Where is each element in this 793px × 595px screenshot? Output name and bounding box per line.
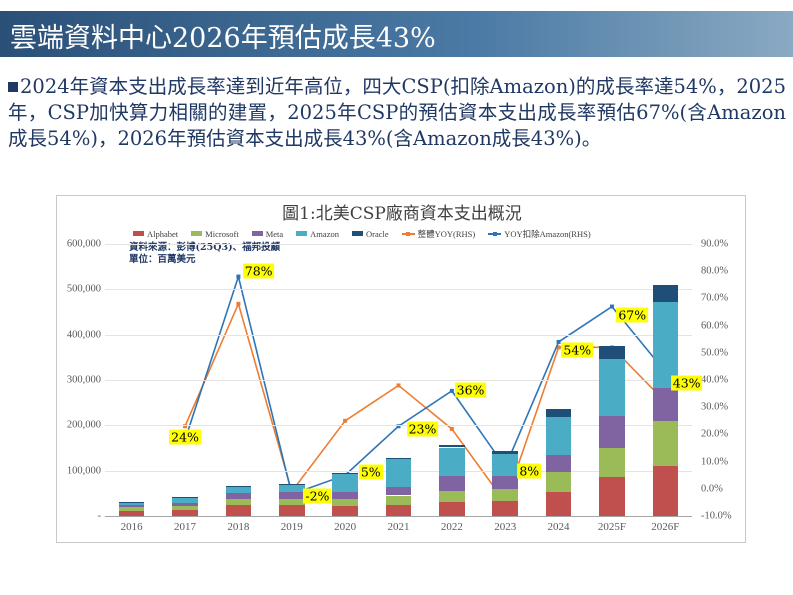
x-axis-tick: 2024 — [532, 518, 585, 538]
slide-body-text: 2024年資本支出成長率達到近年高位，四大CSP(扣除Amazon)的成長率達5… — [8, 74, 786, 152]
bar-segment — [279, 499, 305, 505]
bar-segment — [386, 496, 412, 505]
chart-data-label: 36% — [455, 382, 487, 397]
y-axis-left: -100,000200,000300,000400,000500,000600,… — [57, 244, 101, 516]
y-axis-left-tick: 200,000 — [61, 420, 101, 431]
bar-stack — [546, 244, 572, 516]
bar-segment — [386, 487, 412, 495]
footer-text: 【僅供內部教育訓練使用，嚴禁外流】 — [58, 564, 254, 580]
x-axis-tick: 2025F — [585, 518, 638, 538]
bar-segment — [599, 346, 625, 360]
bullet-square-icon — [8, 82, 18, 92]
bar-segment — [492, 454, 518, 476]
legend-swatch-meta — [252, 231, 263, 236]
chart-data-label: 67% — [616, 307, 648, 322]
chart-title: 圖1:北美CSP廠商資本支出概況 — [57, 199, 747, 224]
bar-segment — [546, 409, 572, 417]
bar-segment — [119, 507, 145, 511]
chart-data-label: -2% — [303, 488, 331, 503]
legend-swatch-alphabet — [133, 231, 144, 236]
bar-segment — [599, 477, 625, 516]
bar-segment — [172, 503, 198, 506]
bar-segment — [439, 476, 465, 491]
x-axis-tick: 2022 — [425, 518, 478, 538]
x-axis-tick: 2021 — [372, 518, 425, 538]
y-axis-right-tick: 80.0% — [701, 266, 728, 277]
bar-segment — [119, 502, 145, 503]
bar-segment — [332, 474, 358, 492]
y-axis-right-tick: 10.0% — [701, 456, 728, 467]
chart-container: 圖1:北美CSP廠商資本支出概況 Alphabet Microsoft Meta… — [56, 195, 746, 543]
bar-stack — [439, 244, 465, 516]
bar-segment — [172, 498, 198, 503]
bar-segment — [279, 492, 305, 499]
bar-segment — [492, 489, 518, 502]
bar-segment — [119, 505, 145, 507]
bar-stack — [226, 244, 252, 516]
plot-area: 24%78%-2%5%23%36%8%54%67%43% — [105, 244, 692, 516]
legend-item-oracle: Oracle — [352, 229, 389, 239]
bar-segment — [546, 492, 572, 516]
chart-data-label: 5% — [359, 465, 383, 480]
y-axis-right-tick: 0.0% — [701, 483, 723, 494]
chart-data-label: 43% — [671, 375, 703, 390]
page-title: 雲端資料中心2026年預估成長43% — [10, 16, 436, 55]
legend-item-meta: Meta — [252, 229, 283, 239]
bar-segment — [226, 499, 252, 504]
chart-data-label: 54% — [561, 343, 593, 358]
bar-stack — [386, 244, 412, 516]
legend-label-meta: Meta — [266, 229, 283, 239]
bar-segment — [653, 421, 679, 466]
y-axis-right-tick: 50.0% — [701, 347, 728, 358]
slide-footer: 【僅供內部教育訓練使用，嚴禁外流】 5 — [45, 559, 793, 585]
x-axis-baseline — [105, 516, 692, 517]
chart-data-label: 8% — [517, 464, 541, 479]
bar-segment — [546, 417, 572, 455]
body-paragraph: 2024年資本支出成長率達到近年高位，四大CSP(扣除Amazon)的成長率達5… — [8, 75, 786, 150]
y-axis-left-tick: - — [61, 511, 101, 522]
bar-segment — [492, 501, 518, 516]
slide-title-bar: 雲端資料中心2026年預估成長43% — [0, 11, 793, 57]
bar-segment — [492, 451, 518, 454]
legend-swatch-oracle — [352, 231, 363, 236]
x-axis-tick: 2018 — [212, 518, 265, 538]
x-axis-tick: 2023 — [479, 518, 532, 538]
legend-item-total-yoy: 整體YOY(RHS) — [402, 228, 476, 240]
bar-segment — [599, 359, 625, 416]
y-axis-left-tick: 600,000 — [61, 239, 101, 250]
bar-stack — [119, 244, 145, 516]
bar-segment — [279, 485, 305, 493]
y-axis-right-tick: 60.0% — [701, 320, 728, 331]
legend-label-alphabet: Alphabet — [147, 229, 178, 239]
bar-segment — [332, 492, 358, 499]
footer-page-number: 5 — [771, 563, 777, 578]
bar-segment — [439, 491, 465, 502]
bar-segment — [119, 502, 145, 505]
bar-segment — [386, 458, 412, 459]
bar-segment — [332, 473, 358, 474]
legend-linemarker-yoy-ex-amazon — [488, 230, 501, 237]
legend-item-microsoft: Microsoft — [191, 229, 239, 239]
bar-segment — [332, 506, 358, 516]
x-axis-tick: 2026F — [639, 518, 692, 538]
chart-data-label: 23% — [407, 421, 439, 436]
bar-segment — [279, 505, 305, 516]
legend-swatch-amazon — [296, 231, 307, 236]
y-axis-left-tick: 400,000 — [61, 329, 101, 340]
legend-item-yoy-ex-amazon: YOY扣除Amazon(RHS) — [488, 228, 590, 240]
bar-segment — [546, 455, 572, 472]
line-series — [185, 304, 665, 503]
bar-stack — [279, 244, 305, 516]
bar-segment — [546, 472, 572, 492]
x-axis-tick: 2017 — [158, 518, 211, 538]
bar-segment — [439, 445, 465, 447]
y-axis-right-tick: 20.0% — [701, 429, 728, 440]
bar-segment — [653, 388, 679, 421]
x-axis-tick: 2019 — [265, 518, 318, 538]
bar-segment — [492, 476, 518, 489]
y-axis-right-tick: 40.0% — [701, 375, 728, 386]
bar-segment — [439, 502, 465, 516]
x-axis-tick: 2020 — [318, 518, 371, 538]
bar-stack — [332, 244, 358, 516]
y-axis-right-tick: 90.0% — [701, 239, 728, 250]
bar-segment — [439, 448, 465, 477]
bar-segment — [653, 285, 679, 302]
y-axis-left-tick: 500,000 — [61, 284, 101, 295]
y-axis-left-tick: 300,000 — [61, 375, 101, 386]
bar-stack — [492, 244, 518, 516]
bar-stack — [599, 244, 625, 516]
legend-label-total-yoy: 整體YOY(RHS) — [418, 228, 476, 240]
bar-segment — [599, 416, 625, 448]
bar-stack — [172, 244, 198, 516]
y-axis-right-tick: -10.0% — [701, 511, 732, 522]
bar-segment — [386, 505, 412, 516]
bar-segment — [172, 497, 198, 498]
legend-label-oracle: Oracle — [366, 229, 389, 239]
bar-segment — [226, 486, 252, 487]
legend-label-microsoft: Microsoft — [205, 229, 239, 239]
bar-segment — [226, 487, 252, 493]
y-axis-right-tick: 70.0% — [701, 293, 728, 304]
line-series — [185, 277, 665, 495]
chart-legend: Alphabet Microsoft Meta Amazon Oracle 整體… — [133, 227, 743, 240]
y-axis-right-tick: 30.0% — [701, 402, 728, 413]
x-axis-labels: 2016201720182019202020212022202320242025… — [105, 518, 692, 538]
chart-data-label: 24% — [169, 430, 201, 445]
bar-segment — [599, 448, 625, 477]
y-axis-left-tick: 100,000 — [61, 465, 101, 476]
legend-item-alphabet: Alphabet — [133, 229, 178, 239]
chart-data-label: 78% — [243, 264, 275, 279]
bar-segment — [172, 506, 198, 510]
x-axis-tick: 2016 — [105, 518, 158, 538]
legend-swatch-microsoft — [191, 231, 202, 236]
legend-label-yoy-ex-amazon: YOY扣除Amazon(RHS) — [504, 228, 590, 240]
legend-linemarker-total-yoy — [402, 230, 415, 237]
bar-segment — [332, 499, 358, 506]
bar-segment — [653, 466, 679, 516]
bar-segment — [279, 484, 305, 485]
bar-segment — [386, 459, 412, 487]
legend-label-amazon: Amazon — [310, 229, 339, 239]
bar-segment — [226, 505, 252, 516]
bar-segment — [226, 493, 252, 499]
legend-item-amazon: Amazon — [296, 229, 339, 239]
